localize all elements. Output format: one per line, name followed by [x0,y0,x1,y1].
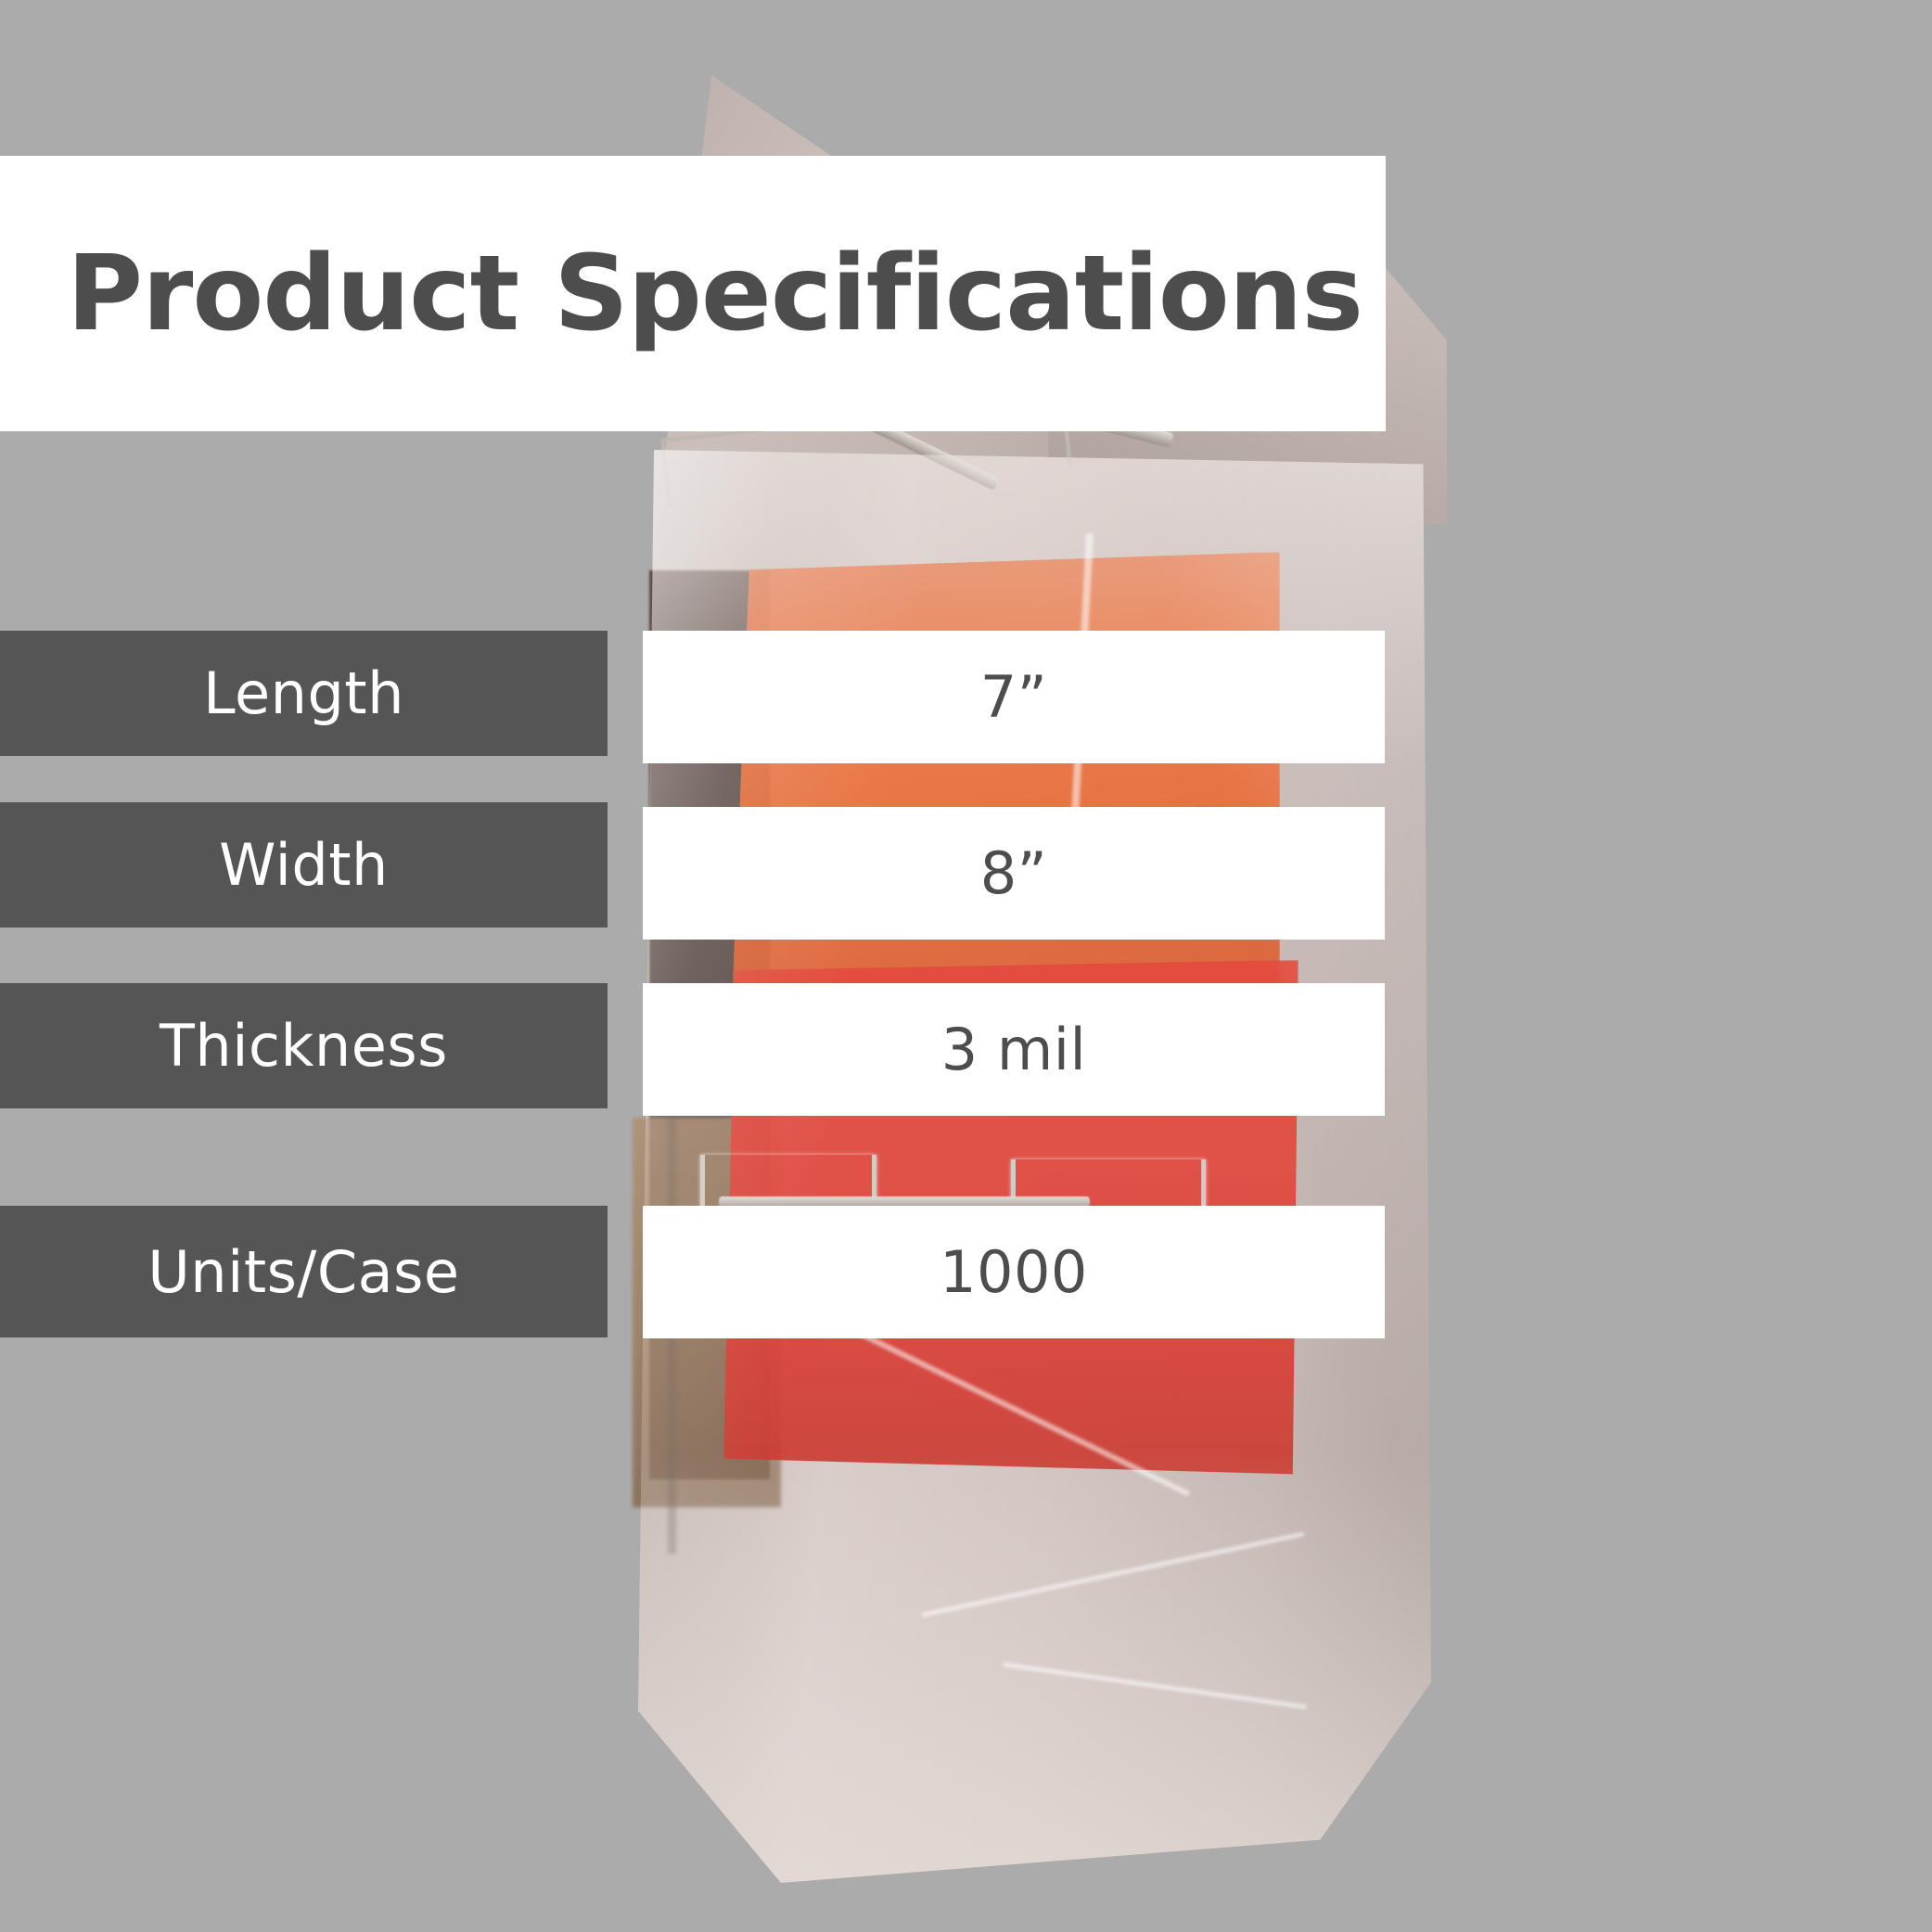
spec-value-thickness: 3 mil [643,983,1385,1116]
spec-label-text: Length [203,659,404,727]
spec-value-text: 3 mil [941,1016,1087,1083]
spec-label-text: Units/Case [147,1238,459,1306]
spec-label-width: Width [0,802,608,928]
spec-value-text: 7” [980,663,1048,731]
page-title-bar: Product Specifications [0,156,1386,431]
spec-label-thickness: Thickness [0,983,608,1108]
spec-label-length: Length [0,631,608,756]
spec-value-text: 1000 [940,1238,1088,1306]
spec-value-width: 8” [643,807,1385,940]
spec-value-units-per-case: 1000 [643,1206,1385,1338]
spec-value-text: 8” [980,839,1048,907]
page-title: Product Specifications [67,242,1363,346]
spec-label-text: Thickness [160,1012,448,1080]
spec-value-length: 7” [643,631,1385,763]
spec-label-text: Width [219,831,389,899]
spec-label-units-per-case: Units/Case [0,1206,608,1337]
screenshot-canvas: Product Specifications Length 7” Width 8… [0,0,1932,1932]
